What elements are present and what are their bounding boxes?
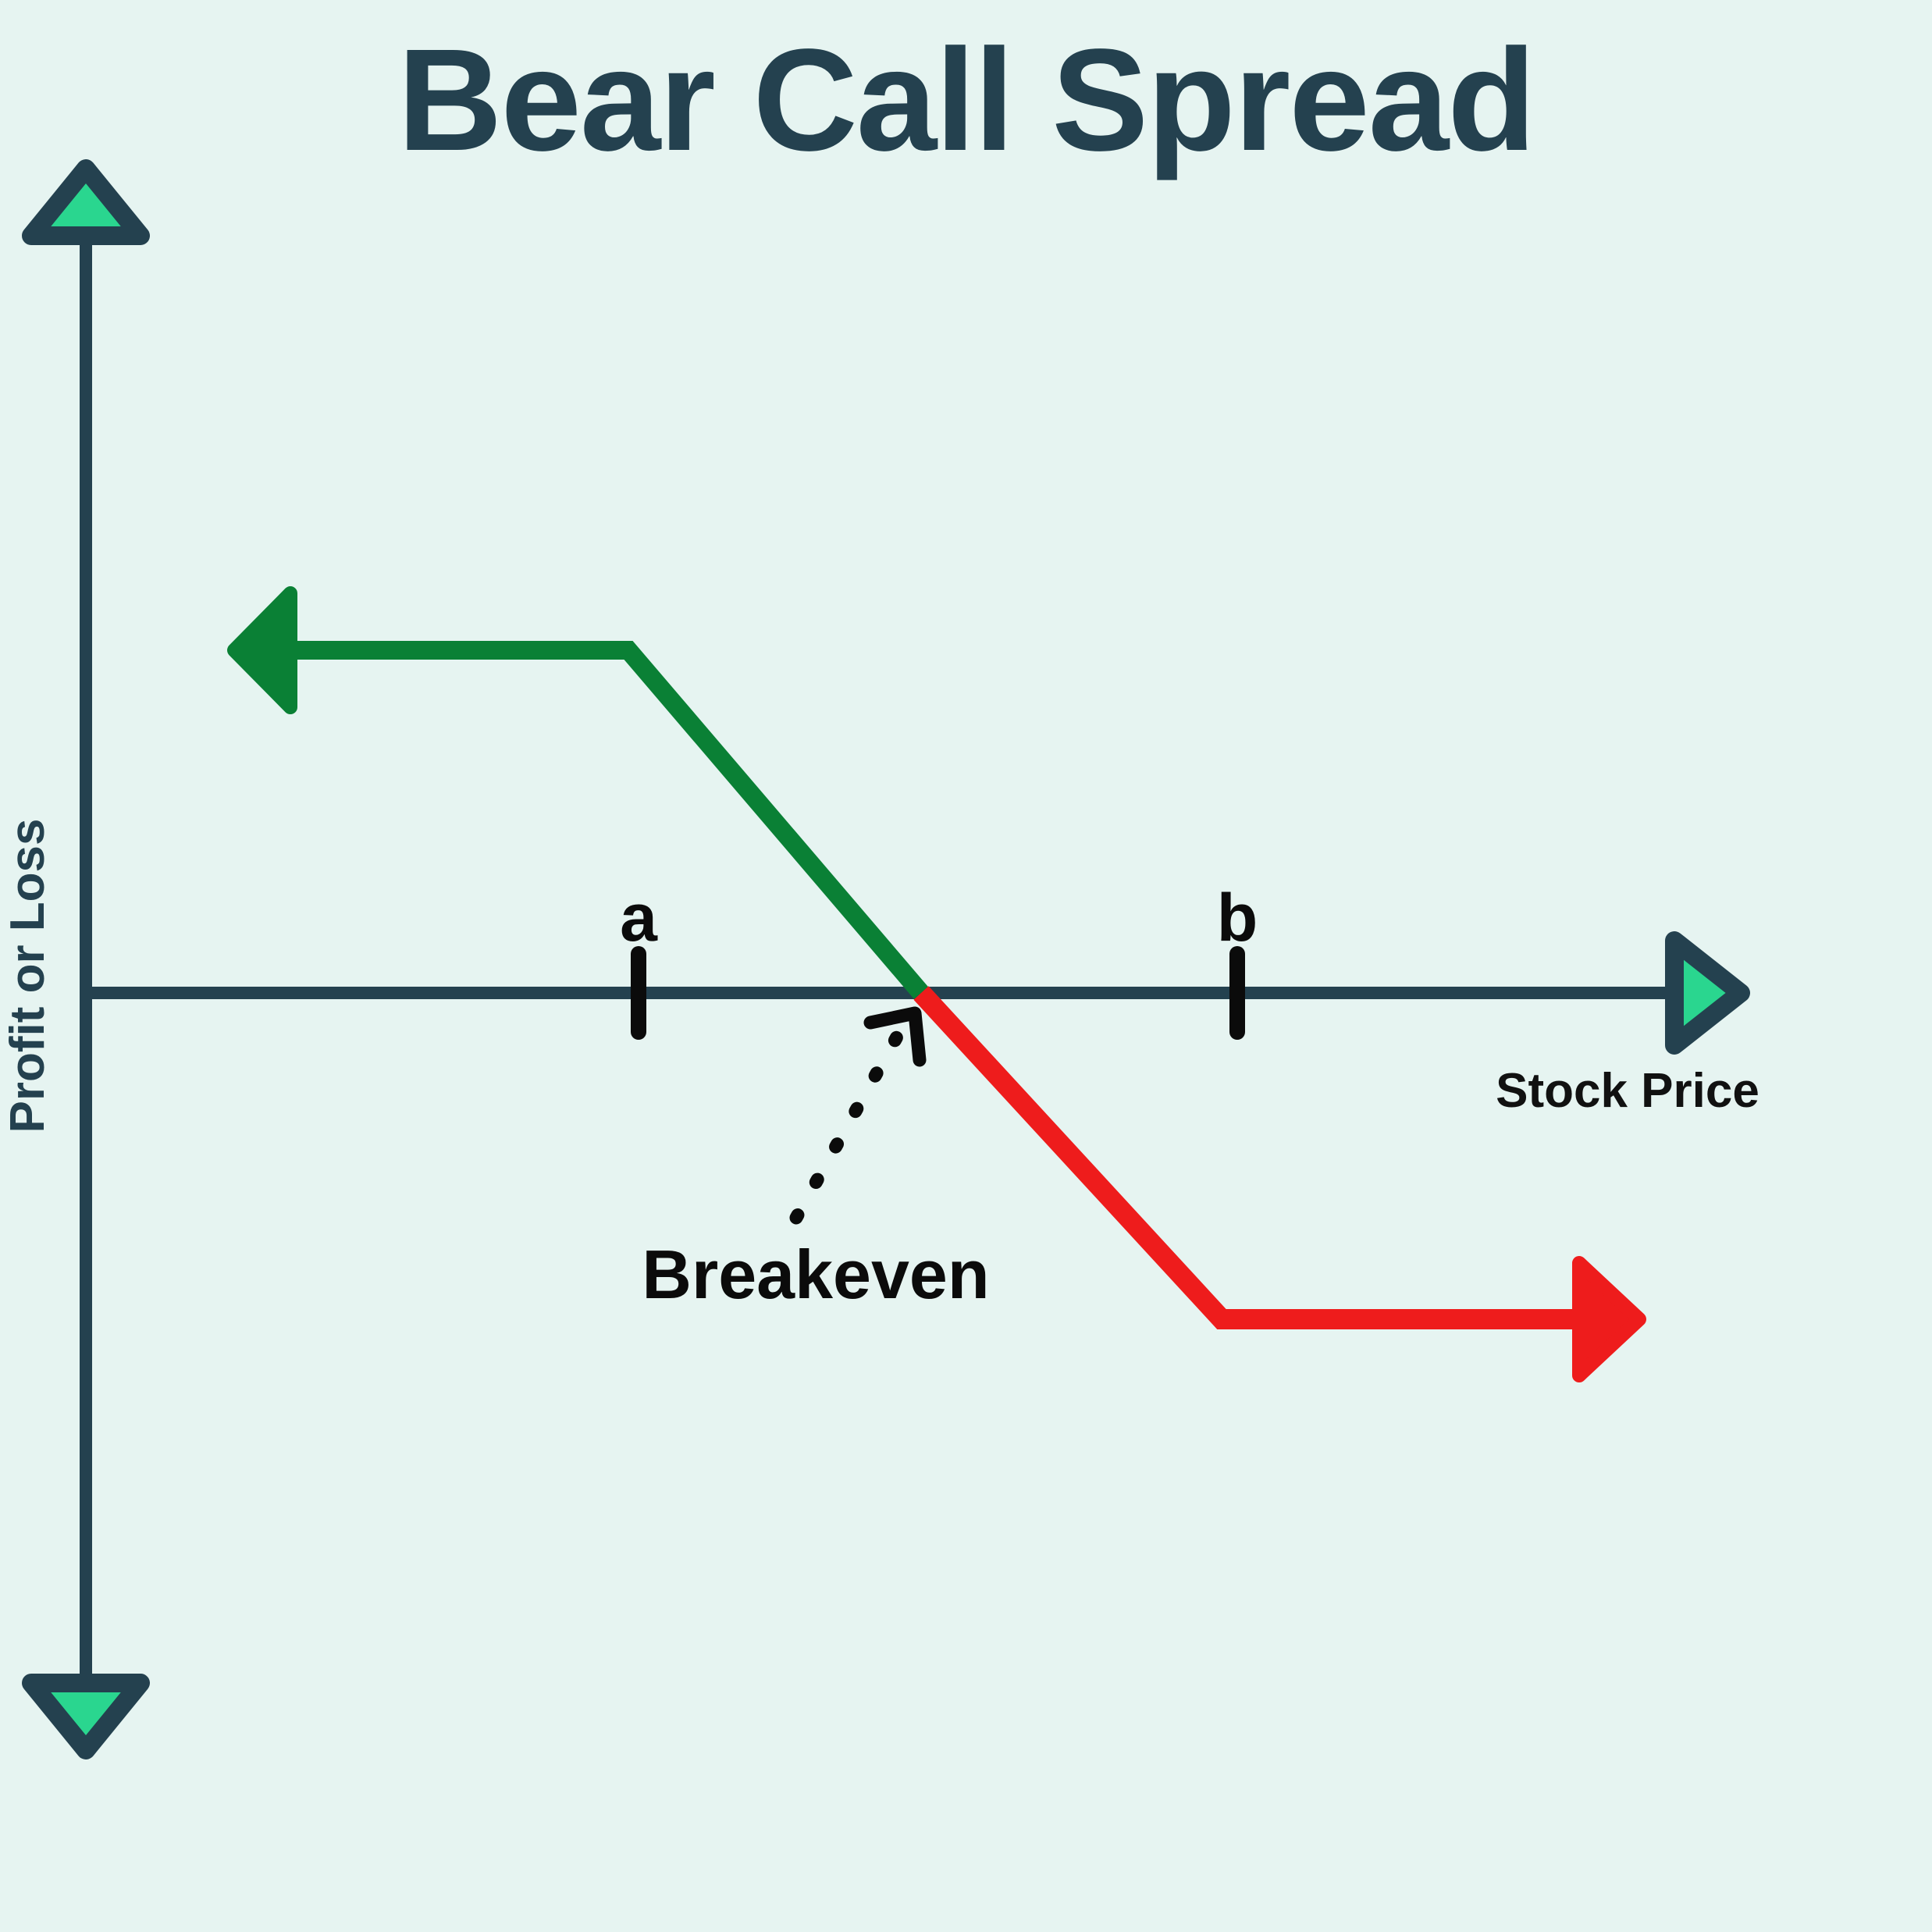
breakeven-leader-dotted-line (796, 1024, 904, 1218)
profit-payoff-line (279, 650, 921, 993)
loss-payoff-line (921, 993, 1589, 1319)
x-axis-title: Stock Price (1496, 1064, 1759, 1118)
profit-line-left-arrow-icon (234, 593, 290, 707)
breakeven-label: Breakeven (642, 1236, 989, 1313)
y-axis-down-arrow-icon (31, 1683, 141, 1750)
tick-label-b: b (1217, 881, 1258, 955)
loss-line-right-arrow-icon (1579, 1263, 1639, 1375)
x-axis-right-arrow-icon (1674, 941, 1741, 1045)
payoff-diagram: a b Profit or Loss Stock Price Breakeven (0, 0, 1932, 1932)
chart-canvas: Bear Call Spread a b Profit or Loss Stoc… (0, 0, 1932, 1932)
y-axis-title: Profit or Loss (1, 818, 55, 1133)
y-axis-up-arrow-icon (31, 169, 141, 236)
tick-label-a: a (620, 881, 658, 955)
